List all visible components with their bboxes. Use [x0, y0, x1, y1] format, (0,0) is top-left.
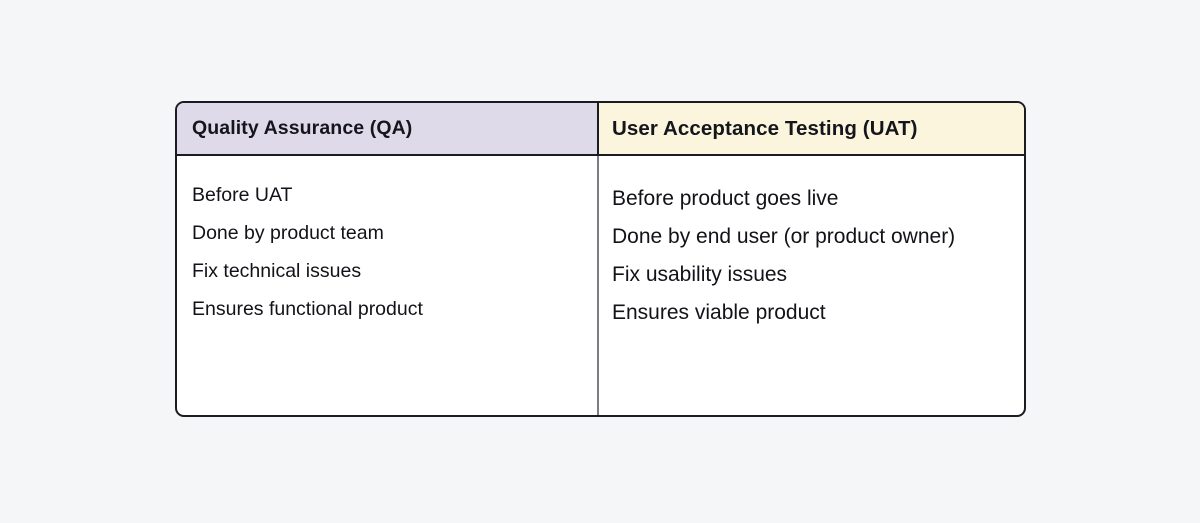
column-header-title-uat: User Acceptance Testing (UAT)	[612, 117, 918, 141]
list-item: Ensures functional product	[192, 290, 597, 328]
table-header-cell-uat: User Acceptance Testing (UAT)	[599, 103, 1024, 154]
list-item: Done by product team	[192, 214, 597, 252]
table-header-cell-qa: Quality Assurance (QA)	[177, 103, 599, 154]
table-header-row: Quality Assurance (QA) User Acceptance T…	[177, 103, 1024, 156]
uat-item-list: Before product goes live Done by end use…	[612, 180, 1024, 332]
list-item: Before UAT	[192, 176, 597, 214]
table-body-cell-qa: Before UAT Done by product team Fix tech…	[177, 156, 599, 415]
qa-vs-uat-comparison-table: Quality Assurance (QA) User Acceptance T…	[175, 101, 1026, 417]
list-item: Fix usability issues	[612, 256, 1024, 294]
table-body-cell-uat: Before product goes live Done by end use…	[599, 156, 1024, 415]
qa-item-list: Before UAT Done by product team Fix tech…	[192, 176, 597, 328]
list-item: Before product goes live	[612, 180, 1024, 218]
table-body-row: Before UAT Done by product team Fix tech…	[177, 156, 1024, 415]
list-item: Done by end user (or product owner)	[612, 218, 1024, 256]
list-item: Fix technical issues	[192, 252, 597, 290]
column-header-title-qa: Quality Assurance (QA)	[192, 117, 412, 140]
page-canvas: Quality Assurance (QA) User Acceptance T…	[0, 0, 1200, 523]
list-item: Ensures viable product	[612, 294, 1024, 332]
